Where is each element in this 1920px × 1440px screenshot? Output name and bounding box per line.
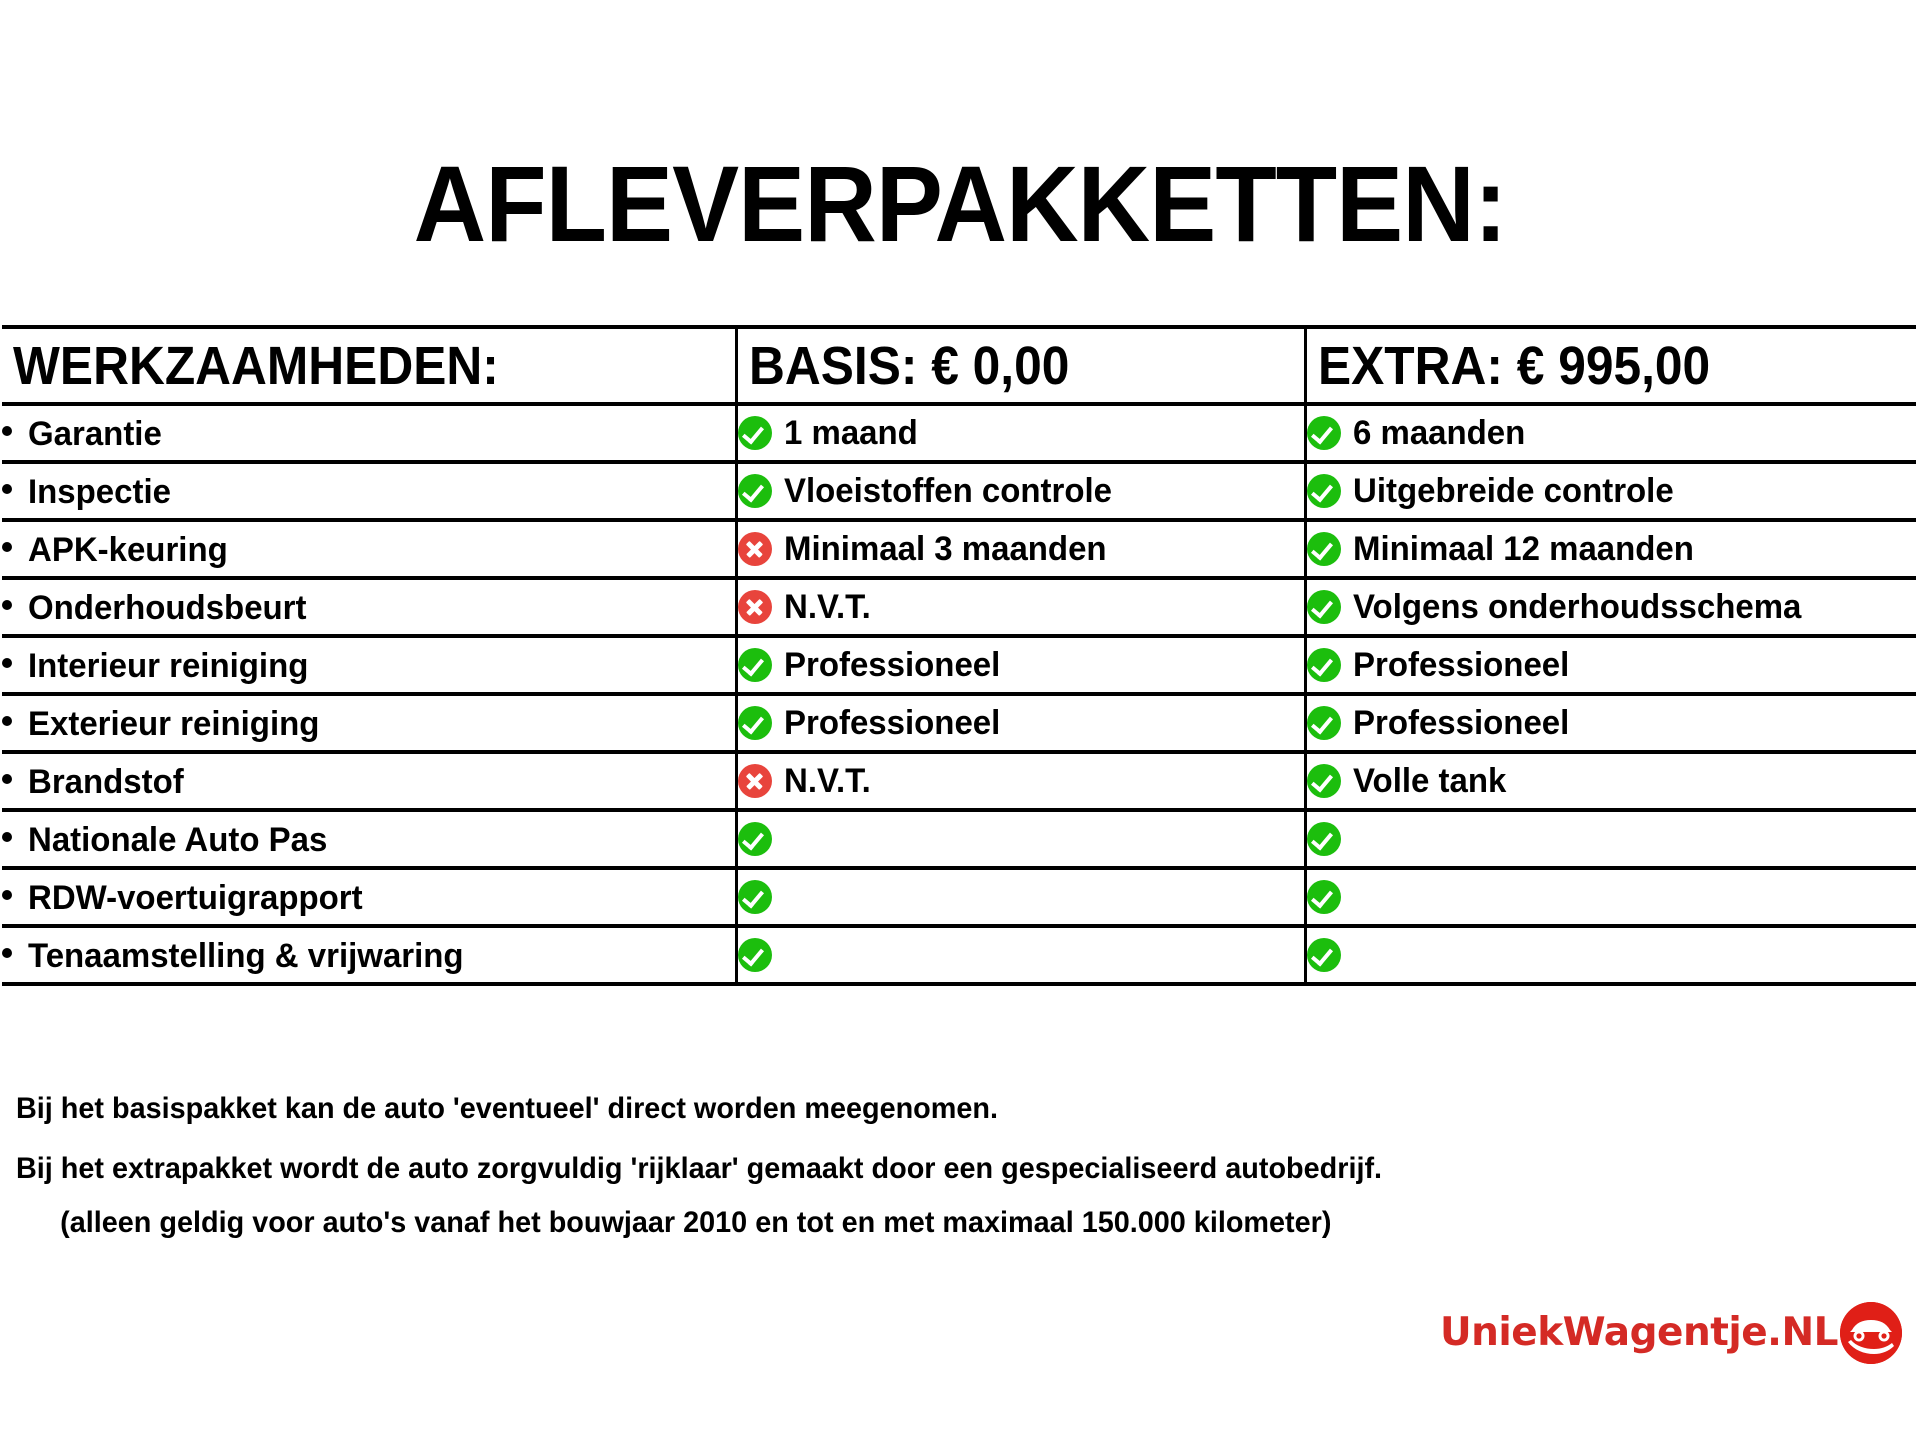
check-icon (738, 474, 772, 508)
extra-value-label: 6 maanden (1353, 415, 1525, 451)
bullet-icon (2, 542, 12, 552)
table-body: Garantie 1 maand 6 maanden Inspectie (2, 404, 1916, 984)
extra-value-label: Volle tank (1353, 763, 1506, 799)
work-item-label: Garantie (28, 416, 162, 452)
work-item-label: Exterieur reiniging (28, 706, 319, 742)
extra-value-cell: Professioneel (1305, 636, 1916, 694)
check-icon (738, 822, 772, 856)
basis-value-cell (736, 926, 1305, 984)
table-row: Nationale Auto Pas (2, 810, 1916, 868)
work-item-cell: Inspectie (2, 462, 736, 520)
cross-icon (738, 590, 772, 624)
extra-value-cell (1305, 810, 1916, 868)
bullet-icon (2, 426, 12, 436)
basis-value-label: N.V.T. (784, 763, 871, 799)
basis-value-label: Professioneel (784, 647, 1000, 683)
table-row: Onderhoudsbeurt N.V.T. Volgens onderhoud… (2, 578, 1916, 636)
basis-value-cell: Professioneel (736, 694, 1305, 752)
basis-value-cell: 1 maand (736, 404, 1305, 462)
extra-value-cell (1305, 926, 1916, 984)
basis-value-cell: Vloeistoffen controle (736, 462, 1305, 520)
basis-value-cell (736, 868, 1305, 926)
extra-value-label: Professioneel (1353, 647, 1569, 683)
note-extra-package: Bij het extrapakket wordt de auto zorgvu… (16, 1152, 1802, 1186)
column-header-basis-label: BASIS: € 0,00 (738, 338, 1069, 394)
table-row: Inspectie Vloeistoffen controle Uitgebre… (2, 462, 1916, 520)
basis-value-cell: N.V.T. (736, 752, 1305, 810)
check-icon (1307, 706, 1341, 740)
table-row: Interieur reiniging Professioneel Profes… (2, 636, 1916, 694)
table-row: RDW-voertuigrapport (2, 868, 1916, 926)
check-icon (738, 706, 772, 740)
work-item-label: Interieur reiniging (28, 648, 308, 684)
column-header-basis: BASIS: € 0,00 (736, 327, 1305, 404)
bullet-icon (2, 774, 12, 784)
cross-icon (738, 532, 772, 566)
delivery-packages-table: WERKZAAMHEDEN: BASIS: € 0,00 EXTRA: € 99… (2, 325, 1916, 986)
work-item-cell: Interieur reiniging (2, 636, 736, 694)
extra-value-cell: Volle tank (1305, 752, 1916, 810)
work-item-cell: Nationale Auto Pas (2, 810, 736, 868)
work-item-label: Nationale Auto Pas (28, 822, 327, 858)
check-icon (1307, 938, 1341, 972)
extra-value-cell: Volgens onderhoudsschema (1305, 578, 1916, 636)
basis-value-label: Professioneel (784, 705, 1000, 741)
bullet-icon (2, 600, 12, 610)
extra-value-cell: Minimaal 12 maanden (1305, 520, 1916, 578)
bullet-icon (2, 832, 12, 842)
basis-value-label: N.V.T. (784, 589, 871, 625)
table-header: WERKZAAMHEDEN: BASIS: € 0,00 EXTRA: € 99… (2, 327, 1916, 404)
bullet-icon (2, 716, 12, 726)
column-header-extra-label: EXTRA: € 995,00 (1307, 338, 1710, 394)
work-item-cell: Garantie (2, 404, 736, 462)
extra-value-label: Uitgebreide controle (1353, 473, 1674, 509)
work-item-label: RDW-voertuigrapport (28, 880, 363, 916)
work-item-cell: RDW-voertuigrapport (2, 868, 736, 926)
page-title: AFLEVERPAKKETTEN: (67, 148, 1853, 260)
basis-value-cell: N.V.T. (736, 578, 1305, 636)
work-item-cell: Brandstof (2, 752, 736, 810)
car-in-hand-icon (1840, 1302, 1902, 1364)
check-icon (1307, 474, 1341, 508)
table-header-row: WERKZAAMHEDEN: BASIS: € 0,00 EXTRA: € 99… (2, 327, 1916, 404)
extra-value-cell: Uitgebreide controle (1305, 462, 1916, 520)
check-icon (1307, 764, 1341, 798)
footer-notes: Bij het basispakket kan de auto 'eventue… (16, 1092, 1876, 1266)
note-eligibility: (alleen geldig voor auto's vanaf het bou… (16, 1206, 1802, 1240)
work-item-cell: Exterieur reiniging (2, 694, 736, 752)
extra-value-label: Volgens onderhoudsschema (1353, 589, 1801, 625)
work-item-cell: Tenaamstelling & vrijwaring (2, 926, 736, 984)
table-row: Garantie 1 maand 6 maanden (2, 404, 1916, 462)
extra-value-cell: 6 maanden (1305, 404, 1916, 462)
basis-value-cell: Professioneel (736, 636, 1305, 694)
extra-value-cell: Professioneel (1305, 694, 1916, 752)
table-row: Tenaamstelling & vrijwaring (2, 926, 1916, 984)
work-item-label: Tenaamstelling & vrijwaring (28, 938, 464, 974)
basis-value-label: Vloeistoffen controle (784, 473, 1112, 509)
basis-value-label: 1 maand (784, 415, 918, 451)
work-item-cell: Onderhoudsbeurt (2, 578, 736, 636)
check-icon (738, 880, 772, 914)
table-row: APK-keuring Minimaal 3 maanden Minimaal … (2, 520, 1916, 578)
work-item-label: APK-keuring (28, 532, 228, 568)
brand-logo-text: UniekWagentje.NL (1440, 1312, 1838, 1354)
table-row: Brandstof N.V.T. Volle tank (2, 752, 1916, 810)
check-icon (1307, 416, 1341, 450)
bullet-icon (2, 948, 12, 958)
table-row: Exterieur reiniging Professioneel Profes… (2, 694, 1916, 752)
column-header-werkzaamheden: WERKZAAMHEDEN: (2, 327, 736, 404)
check-icon (738, 648, 772, 682)
extra-value-label: Minimaal 12 maanden (1353, 531, 1694, 567)
check-icon (1307, 822, 1341, 856)
bullet-icon (2, 890, 12, 900)
basis-value-cell: Minimaal 3 maanden (736, 520, 1305, 578)
work-item-label: Inspectie (28, 474, 171, 510)
extra-value-cell (1305, 868, 1916, 926)
basis-value-label: Minimaal 3 maanden (784, 531, 1107, 567)
bullet-icon (2, 658, 12, 668)
work-item-cell: APK-keuring (2, 520, 736, 578)
note-basis-package: Bij het basispakket kan de auto 'eventue… (16, 1092, 1802, 1126)
check-icon (1307, 880, 1341, 914)
check-icon (1307, 590, 1341, 624)
work-item-label: Onderhoudsbeurt (28, 590, 306, 626)
check-icon (1307, 648, 1341, 682)
cross-icon (738, 764, 772, 798)
check-icon (1307, 532, 1341, 566)
work-item-label: Brandstof (28, 764, 184, 800)
bullet-icon (2, 484, 12, 494)
column-header-extra: EXTRA: € 995,00 (1305, 327, 1916, 404)
check-icon (738, 938, 772, 972)
brand-logo[interactable]: UniekWagentje.NL (1440, 1302, 1902, 1364)
check-icon (738, 416, 772, 450)
extra-value-label: Professioneel (1353, 705, 1569, 741)
basis-value-cell (736, 810, 1305, 868)
column-header-werkzaamheden-label: WERKZAAMHEDEN: (2, 338, 499, 394)
